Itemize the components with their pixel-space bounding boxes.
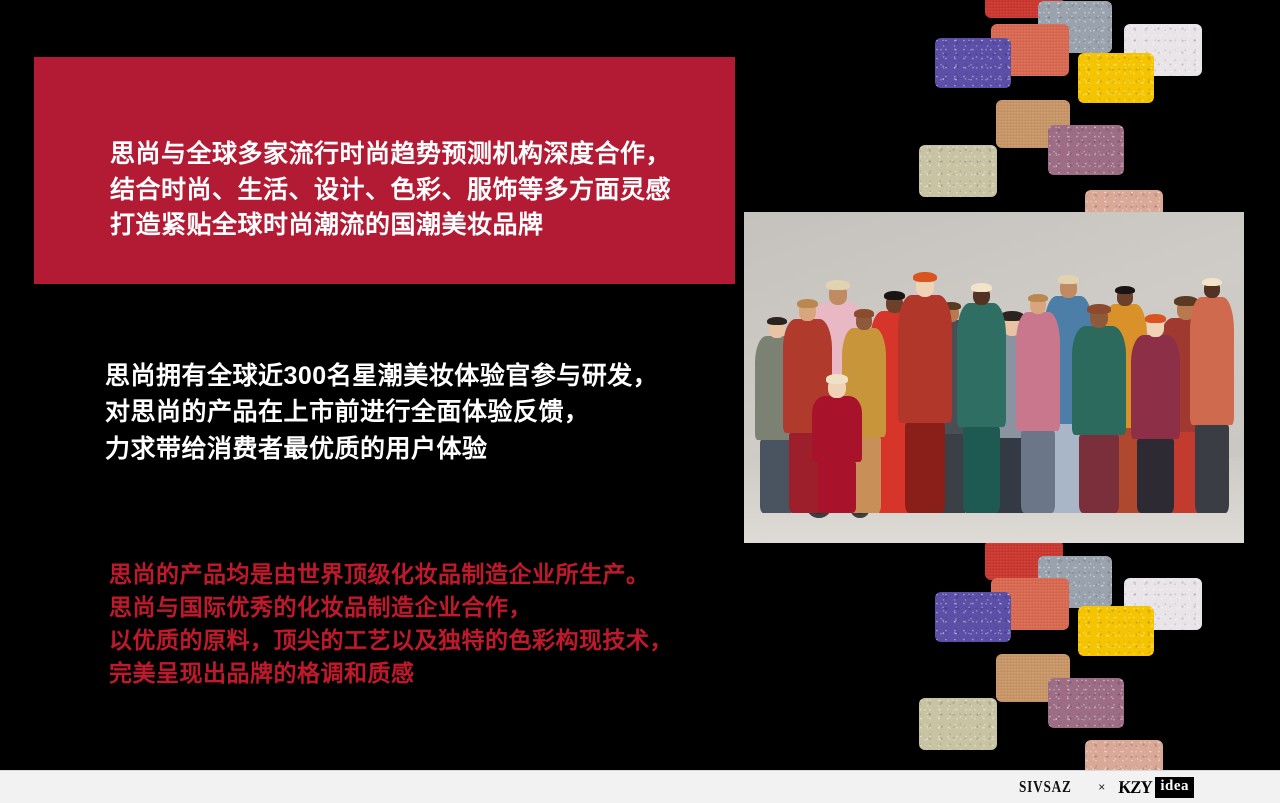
eyeshadow-pan-yellow-glitter xyxy=(1078,53,1154,103)
subject-torso xyxy=(1131,335,1180,439)
subject-legs xyxy=(1021,431,1055,513)
eyeshadow-pan-mauve-glitter xyxy=(1048,125,1124,175)
subject-legs xyxy=(818,462,856,514)
subject-head xyxy=(1090,307,1109,329)
kzy-idea-logo: KZY idea xyxy=(1117,777,1194,798)
brand-lockup: SIVSAZ × KZY idea xyxy=(1019,777,1194,798)
eyeshadow-pan-mauve-glitter xyxy=(1048,678,1124,728)
photo-subjects xyxy=(744,252,1244,514)
subject-head xyxy=(1060,278,1077,298)
subject-head xyxy=(973,286,990,306)
subject-head xyxy=(1117,288,1133,306)
eyeshadow-pan-purple-glitter xyxy=(935,592,1011,642)
subject-legs xyxy=(963,427,1000,513)
kzy-wordmark: KZY xyxy=(1118,777,1152,798)
subject-head xyxy=(916,275,935,297)
photo-subject xyxy=(1023,296,1053,513)
eyeshadow-pan-champagne-glitter xyxy=(919,698,997,750)
subject-head xyxy=(828,377,846,398)
banner-paragraph: 思尚与全球多家流行时尚趋势预测机构深度合作， 结合时尚、生活、设计、色彩、服饰等… xyxy=(110,137,730,244)
subject-torso xyxy=(1016,312,1060,430)
subject-head xyxy=(1147,317,1164,337)
subject-legs xyxy=(905,423,945,513)
subject-head xyxy=(1030,296,1046,314)
eyeshadow-pan-champagne-glitter xyxy=(919,145,997,197)
subject-head xyxy=(829,283,848,305)
photo-subject xyxy=(1081,307,1117,514)
subject-legs xyxy=(1079,435,1119,513)
paragraph-red: 思尚的产品均是由世界顶级化妆品制造企业所生产。 思尚与国际优秀的化妆品制造企业合… xyxy=(109,558,789,690)
collab-separator-icon: × xyxy=(1098,780,1105,794)
subject-head xyxy=(856,312,872,330)
photo-subject xyxy=(1197,280,1227,513)
subject-legs xyxy=(1137,439,1174,514)
subject-torso xyxy=(1190,297,1234,425)
subject-head xyxy=(1204,280,1220,298)
photo-subject-seated xyxy=(820,377,854,513)
subject-legs xyxy=(1195,425,1229,513)
slide-canvas: 思尚与全球多家流行时尚趋势预测机构深度合作， 结合时尚、生活、设计、色彩、服饰等… xyxy=(0,0,1280,803)
eyeshadow-pan-purple-glitter xyxy=(935,38,1011,88)
photo-subject xyxy=(1139,317,1172,513)
footer-bar: SIVSAZ × KZY idea xyxy=(0,770,1280,803)
subject-torso xyxy=(957,303,1006,426)
group-portrait-photo xyxy=(744,212,1244,543)
subject-head xyxy=(799,301,816,321)
paragraph-white: 思尚拥有全球近300名星潮美妆体验官参与研发， 对思尚的产品在上市前进行全面体验… xyxy=(105,358,745,467)
photo-subject xyxy=(907,275,943,513)
red-banner: 思尚与全球多家流行时尚趋势预测机构深度合作， 结合时尚、生活、设计、色彩、服饰等… xyxy=(34,57,735,284)
subject-torso xyxy=(898,295,951,423)
eyeshadow-pan-yellow-glitter xyxy=(1078,606,1154,656)
subject-head xyxy=(769,320,785,338)
sivsaz-wordmark: SIVSAZ xyxy=(1019,777,1072,797)
photo-subject xyxy=(965,286,998,514)
idea-badge: idea xyxy=(1155,777,1194,798)
subject-torso xyxy=(1072,326,1125,435)
subject-torso xyxy=(812,396,862,462)
